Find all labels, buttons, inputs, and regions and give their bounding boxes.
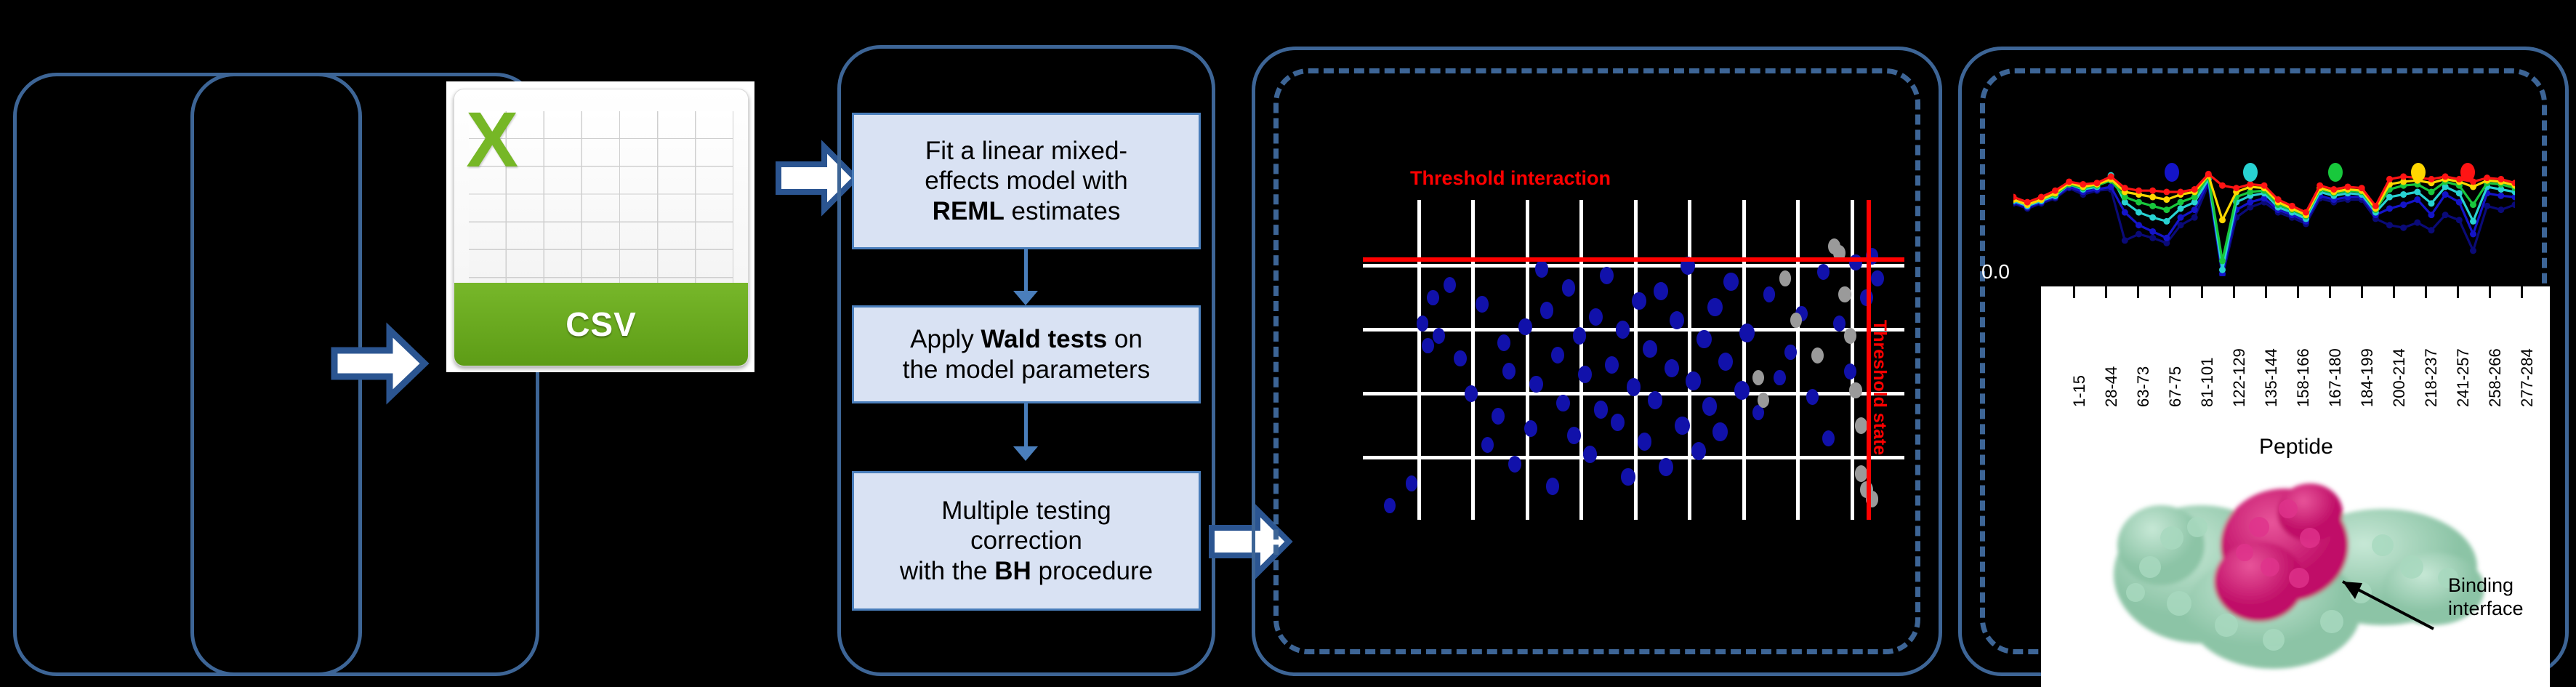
line-marker (2136, 222, 2142, 228)
threshold-interaction-line (1363, 257, 1904, 262)
line-marker (2512, 201, 2516, 208)
line-marker (2428, 227, 2435, 233)
figure-canvas: X CSV Fit a linear mixed-effects model w… (0, 0, 2576, 687)
scatter-point (1779, 270, 1791, 286)
scatter-point (1562, 279, 1576, 297)
x-axis-tick-mark (2201, 286, 2203, 298)
scatter-point (1605, 356, 1619, 374)
line-marker (2163, 206, 2170, 213)
x-axis-tick-mark (2105, 286, 2107, 298)
x-axis-tick-label: 135-144 (2262, 348, 2281, 407)
scatter-point (1465, 385, 1477, 401)
scatter-point (1654, 282, 1668, 300)
scatter-point (1502, 363, 1516, 379)
line-marker (2275, 196, 2282, 203)
step-text-run: REML (933, 197, 1005, 225)
scatter-point (1540, 302, 1553, 318)
line-marker (2247, 181, 2253, 188)
threshold-state-label: Threshold state (1869, 320, 1890, 455)
line-marker (2149, 235, 2156, 241)
csv-band: CSV (454, 283, 748, 366)
scatter-point (1611, 414, 1625, 431)
step-text-run: Wald tests (981, 325, 1107, 353)
scatter-point (1871, 270, 1884, 287)
step-text-run: Apply (910, 325, 981, 353)
line-marker (2219, 182, 2226, 189)
scatter-point (1518, 318, 1531, 335)
line-marker (2428, 212, 2435, 218)
scatter-point (1546, 478, 1559, 494)
grid-line-vertical (1526, 200, 1529, 520)
scatter-point (1696, 330, 1711, 348)
scatter-point (1433, 328, 1445, 344)
scatter-point (1659, 458, 1673, 476)
step-text-run: Fit a linear mixed- (925, 137, 1127, 165)
line-marker (2094, 180, 2101, 186)
scatter-point (1616, 321, 1630, 338)
line-marker (2052, 188, 2058, 194)
line-marker (2400, 191, 2407, 198)
scatter-plot-area (1363, 200, 1904, 520)
x-axis-tick-label: 122-129 (2230, 348, 2249, 407)
line-marker (2289, 203, 2295, 209)
line-marker (2442, 173, 2449, 180)
scatter-point (1594, 401, 1608, 418)
scatter-point (1686, 371, 1700, 390)
line-marker (2080, 181, 2086, 188)
x-axis-tick-label: 277-284 (2518, 348, 2537, 407)
scatter-point (1718, 353, 1734, 371)
line-marker (2386, 176, 2393, 182)
line-marker (2497, 206, 2504, 213)
line-marker (2149, 203, 2156, 209)
line-marker (2178, 214, 2184, 221)
scatter-point (1492, 408, 1505, 425)
line-marker (2149, 188, 2156, 194)
step-text-run: on (1107, 325, 1143, 353)
line-marker (2163, 235, 2170, 241)
line-marker (2178, 199, 2184, 206)
binding-interface-line1: Binding (2448, 574, 2524, 598)
step-reml-box[interactable]: Fit a linear mixed-effects model withREM… (852, 113, 1201, 249)
scatter-point (1567, 427, 1581, 444)
scatter-point (1406, 475, 1418, 491)
line-marker (2456, 190, 2463, 196)
line-marker (2038, 194, 2045, 201)
scatter-point (1670, 311, 1684, 329)
x-axis-tick-label: 63-73 (2134, 366, 2153, 407)
x-axis-line (2041, 284, 2550, 286)
x-axis-tick-label: 258-266 (2486, 348, 2505, 407)
line-marker (2428, 176, 2435, 182)
scatter-point (1739, 324, 1755, 342)
csv-file-icon[interactable]: X CSV (446, 81, 754, 372)
scatter-point (1497, 334, 1510, 351)
x-axis-tick-mark (2521, 286, 2523, 298)
line-marker (2219, 257, 2226, 264)
x-axis-tick-label: 218-237 (2422, 348, 2441, 407)
line-marker (2470, 247, 2476, 254)
step-text-run: with the (900, 557, 994, 585)
scatter-point (1752, 370, 1764, 385)
scatter-point (1417, 316, 1429, 332)
structure-card: 1-1528-4463-7367-7581-101122-129135-1441… (2041, 284, 2550, 687)
scatter-point (1551, 347, 1565, 364)
scatter-point (1707, 298, 1723, 317)
scatter-point (1556, 395, 1570, 412)
legend-dot-green (2328, 163, 2343, 182)
step-text-run: estimates (1005, 197, 1121, 225)
x-axis-tick-label: 167-180 (2326, 348, 2345, 407)
scatter-point (1833, 316, 1846, 332)
protein-structure-image (2092, 458, 2506, 676)
scatter-point (1763, 286, 1775, 302)
line-marker (2414, 196, 2420, 203)
x-axis-tick-mark (2073, 286, 2075, 298)
line-marker (2484, 174, 2490, 181)
scatter-point (1583, 446, 1597, 463)
scatter-point (1578, 366, 1592, 383)
scatter-point (1508, 456, 1521, 473)
scatter-point (1427, 290, 1439, 306)
csv-label: CSV (565, 305, 637, 344)
scatter-point (1476, 296, 1489, 313)
line-marker (2470, 218, 2476, 225)
line-marker (2400, 201, 2407, 208)
scatter-point (1811, 347, 1824, 363)
line-marker (2456, 217, 2463, 223)
scatter-point (1712, 422, 1728, 441)
x-axis-tick-mark (2137, 286, 2139, 298)
legend-dot-yellow (2411, 163, 2426, 182)
x-axis-tick-mark (2425, 286, 2427, 298)
x-axis-tick-mark (2169, 286, 2171, 298)
line-marker (2372, 203, 2379, 209)
scatter-point (1422, 338, 1434, 354)
scatter-point (1524, 420, 1537, 437)
line-marker (2497, 193, 2504, 199)
step-bh-box[interactable]: Multiple testingcorrectionwith the BH pr… (852, 471, 1201, 611)
x-axis-tick-label: 1-15 (2070, 375, 2089, 407)
scatter-point (1844, 363, 1856, 379)
legend-dot-red (2460, 163, 2475, 182)
x-axis-tick-label: 241-257 (2454, 348, 2473, 407)
line-marker (2149, 228, 2156, 235)
binding-interface-annotation: Binding interface (2448, 574, 2524, 621)
scatter-title: Threshold interaction (1410, 167, 1611, 190)
x-axis-tick-mark (2329, 286, 2331, 298)
line-marker (2136, 199, 2142, 206)
line-marker (2163, 218, 2170, 225)
line-marker (2497, 176, 2504, 182)
scatter-point (1734, 381, 1750, 400)
x-axis-tick-label: 67-75 (2166, 366, 2185, 407)
line-marker (2386, 205, 2393, 212)
grid-line-vertical (1796, 200, 1800, 520)
scatter-point (1822, 430, 1835, 446)
line-marker (2149, 194, 2156, 201)
grid-line-vertical (1688, 200, 1691, 520)
connector-arrowhead-bh (1013, 446, 1038, 461)
line-marker (2191, 186, 2198, 193)
scatter-point (1844, 328, 1856, 344)
scatter-point (1454, 350, 1466, 366)
grid-line-vertical (1851, 200, 1854, 520)
scatter-point (1481, 437, 1494, 454)
line-marker (2136, 231, 2142, 238)
line-marker (2122, 185, 2128, 191)
legend-dot-cyan (2243, 163, 2258, 182)
grid-line-vertical (1417, 200, 1421, 520)
line-marker (2470, 231, 2476, 238)
scatter-point (1589, 308, 1603, 326)
step-wald-box[interactable]: Apply Wald tests onthe model parameters (852, 305, 1201, 403)
grid-line-vertical (1579, 200, 1583, 520)
scatter-point (1643, 340, 1657, 358)
line-marker (2136, 209, 2142, 216)
line-marker (2122, 209, 2128, 216)
line-marker (2247, 199, 2253, 206)
x-axis-tick-mark (2297, 286, 2299, 298)
line-marker (2219, 267, 2226, 273)
line-marker (2149, 214, 2156, 221)
scatter-point (1384, 498, 1396, 513)
x-axis-title: Peptide (2259, 435, 2333, 459)
scatter-point (1849, 382, 1861, 398)
scatter-point (1838, 286, 1851, 302)
line-marker (2484, 203, 2490, 209)
connector-wald-to-bh (1024, 403, 1028, 453)
line-marker (2191, 214, 2198, 221)
scatter-point (1535, 260, 1548, 277)
line-marker (2400, 173, 2407, 180)
scatter-point (1790, 313, 1803, 329)
line-marker (2470, 201, 2476, 208)
line-marker (2178, 189, 2184, 196)
csv-tile: X CSV (454, 89, 749, 366)
line-marker (2317, 182, 2323, 189)
line-marker (2219, 217, 2226, 223)
scatter-point (1648, 391, 1662, 409)
line-marker (2205, 171, 2212, 177)
scatter-point (1444, 277, 1456, 293)
x-axis-tick-mark (2233, 286, 2235, 298)
line-marker (2414, 189, 2420, 196)
x-axis-tick-label: 200-214 (2390, 348, 2409, 407)
scatter-point (1784, 345, 1797, 361)
x-axis-tick-mark (2489, 286, 2491, 298)
x-axis-tick-label: 184-199 (2358, 348, 2377, 407)
step-text-run: effects model with (925, 166, 1128, 195)
scatter-point (1638, 433, 1652, 451)
scatter-point (1817, 264, 1830, 280)
scatter-point (1529, 376, 1542, 393)
line-marker (2428, 200, 2435, 206)
x-axis-tick-mark (2265, 286, 2267, 298)
line-marker (2400, 225, 2407, 231)
scatter-point (1600, 267, 1614, 284)
line-marker (2442, 212, 2449, 218)
scatter-point (1665, 359, 1679, 377)
scatter-point (1855, 417, 1867, 433)
scatter-point (1632, 292, 1646, 310)
line-marker (2414, 220, 2420, 226)
line-marker (2066, 178, 2072, 185)
step-text-run: the model parameters (903, 355, 1150, 384)
line-marker (2163, 196, 2170, 203)
x-axis-tick-mark (2393, 286, 2395, 298)
excel-x-icon: X (466, 100, 518, 179)
x-axis-tick-label: 158-166 (2294, 348, 2313, 407)
scatter-point (1758, 393, 1769, 408)
scatter-point (1806, 389, 1819, 405)
step-wald-text: Apply Wald tests onthe model parameters (903, 324, 1150, 385)
y-axis-tick-label: 0.0 (1981, 260, 2010, 284)
step-text-run: Multiple testing (941, 497, 1111, 525)
line-marker (2386, 222, 2393, 228)
scatter-point (1702, 397, 1717, 415)
x-axis-tick-label: 28-44 (2102, 366, 2121, 407)
scatter-point (1855, 465, 1867, 481)
line-marker (2428, 189, 2435, 196)
line-marker (2122, 237, 2128, 244)
line-marker (2191, 206, 2198, 213)
step-reml-text: Fit a linear mixed-effects model withREM… (925, 136, 1128, 226)
line-marker (2359, 185, 2365, 191)
line-marker (2108, 173, 2114, 180)
scatter-point (1573, 327, 1587, 345)
line-marker (2303, 209, 2309, 216)
scatter-point (1774, 370, 1785, 385)
step-bh-text: Multiple testingcorrectionwith the BH pr… (900, 496, 1153, 586)
x-axis-tick-mark (2361, 286, 2363, 298)
line-marker (2345, 183, 2351, 190)
x-axis-tick-label: 81-101 (2198, 357, 2217, 407)
step-text-run: correction (970, 526, 1082, 555)
line-marker (2330, 186, 2337, 193)
line-marker (2178, 205, 2184, 212)
legend-dot-blue (2165, 163, 2179, 182)
line-marker (2163, 189, 2170, 196)
line-marker (2136, 188, 2142, 194)
scatter-point (1675, 417, 1689, 435)
binding-interface-line2: interface (2448, 598, 2524, 621)
line-marker (2233, 185, 2239, 191)
peptide-line-chart (2013, 142, 2515, 276)
line-marker (2024, 199, 2031, 206)
line-marker (2261, 182, 2268, 189)
step-text-run: BH (994, 557, 1031, 585)
grid-line-vertical (1742, 200, 1746, 520)
scatter-point (1621, 468, 1635, 486)
x-axis-tick-mark (2457, 286, 2459, 298)
line-marker (2442, 191, 2449, 198)
step-text-run: procedure (1031, 557, 1153, 585)
scatter-point (1723, 273, 1739, 292)
connector-arrowhead-wald (1013, 291, 1038, 305)
line-chart-svg (2013, 142, 2515, 276)
scatter-point (1627, 378, 1641, 396)
grid-line-vertical (1471, 200, 1475, 520)
